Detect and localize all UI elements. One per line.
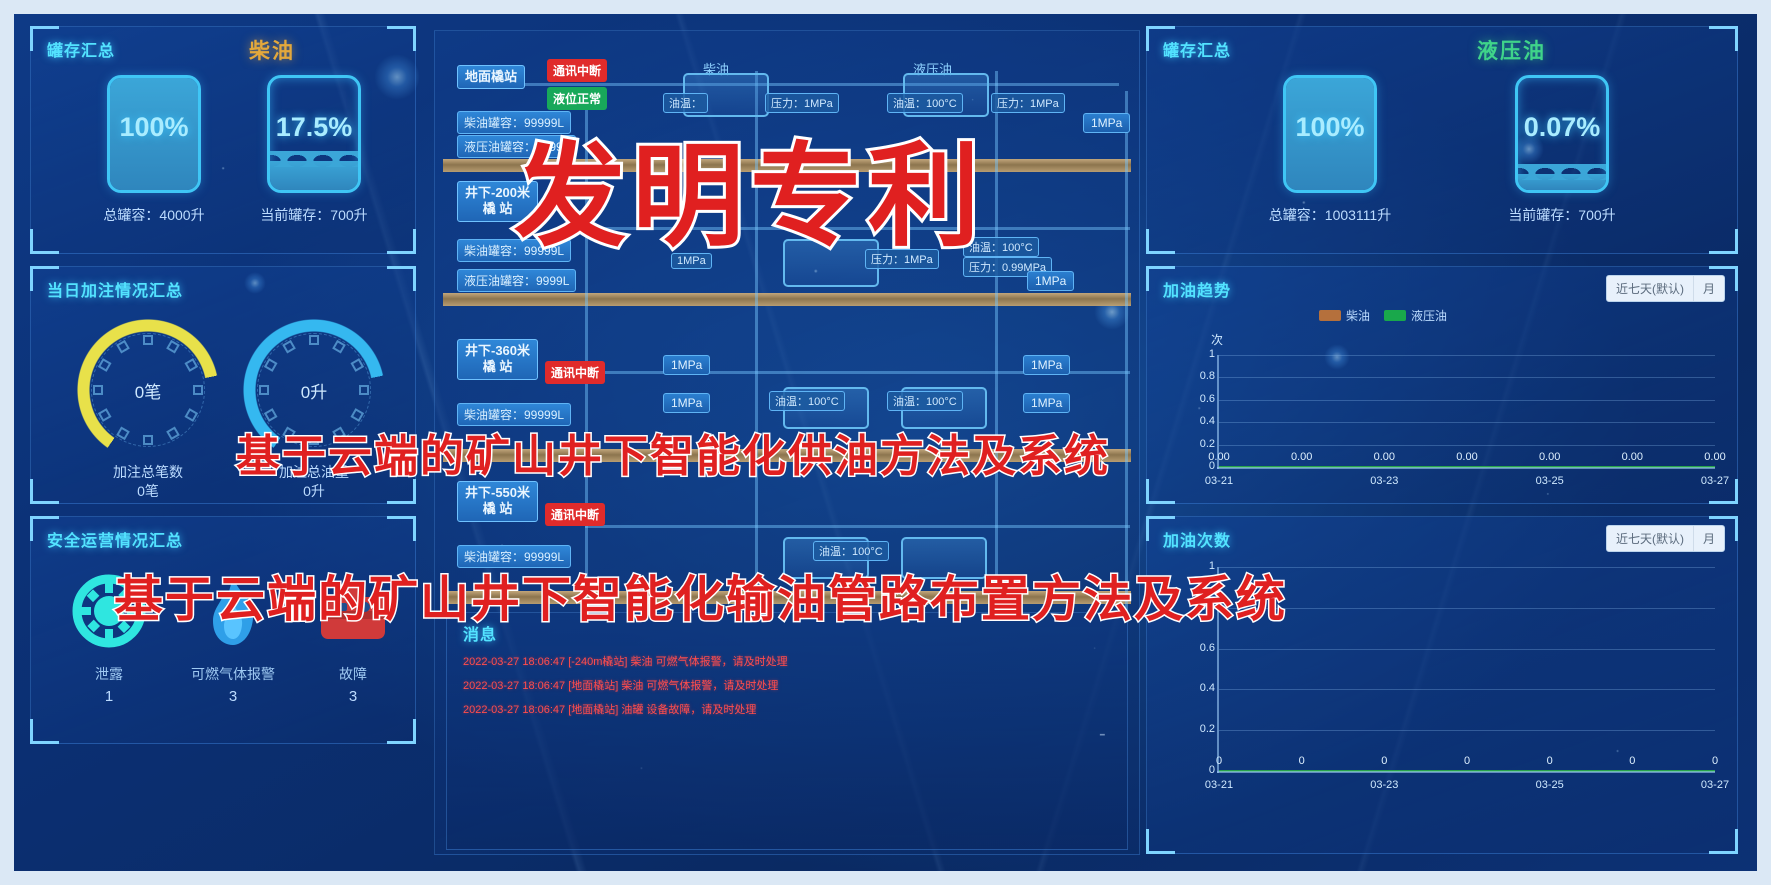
y-tick-label: 0.2 [1185, 723, 1215, 735]
pipe-horizontal [465, 83, 1119, 86]
panel-title: 加油趋势 [1163, 277, 1231, 301]
readout-oiltemp-6: 油温：100°C [813, 541, 889, 561]
data-point-label: 0.00 [1286, 451, 1318, 463]
x-tick-label: 03-21 [1199, 475, 1239, 487]
x-tick-label: 03-25 [1530, 475, 1570, 487]
legend-item-hydraulic: 液压油 [1384, 307, 1447, 324]
tank-caption: 总罐容：1003111升 [1245, 205, 1415, 225]
data-point-label: 0.00 [1203, 451, 1235, 463]
count-x-axis-line [1217, 771, 1715, 773]
tank-graphic: 17.5% [267, 75, 361, 193]
y-tick-label: 0.4 [1185, 415, 1215, 427]
message-row: 2022-03-27 18:06:47 [地面橇站] 油罐 设备故障，请及时处理 [463, 701, 756, 717]
tank-caption: 总罐容：4000升 [79, 205, 229, 225]
data-point-label: 0 [1616, 755, 1648, 767]
tank-fill [270, 161, 358, 190]
tank-percent: 17.5% [270, 112, 358, 143]
gridline [1219, 649, 1715, 650]
caption-line1: 加注总笔数 [63, 463, 233, 482]
gridline [1219, 608, 1715, 609]
data-point-label: 0.00 [1451, 451, 1483, 463]
station-550m[interactable]: 井下-550米 橇 站 [457, 481, 538, 522]
count-range-buttons[interactable]: 近七天(默认) 月 [1606, 525, 1725, 552]
gridline [1219, 730, 1715, 731]
x-tick-label: 03-25 [1530, 779, 1570, 791]
gauge-refuel-count: 0笔 [73, 315, 223, 465]
station-name-line1: 井下-360米 [465, 343, 530, 358]
count-plot-area: 00.20.40.60.8103-2103-2303-2503-27000000… [1219, 567, 1715, 771]
message-row: 2022-03-27 18:06:47 [地面橇站] 柴油 可燃气体报警，请及时… [463, 677, 778, 693]
watermark-title-line1: 基于云端的矿山井下智能化供油方法及系统 [236, 420, 1110, 484]
x-tick-label: 03-27 [1695, 779, 1735, 791]
safety-label: 可燃气体报警 [173, 664, 293, 684]
data-point-label: 0 [1286, 755, 1318, 767]
tank-total-capacity: 100% 总罐容：4000升 [79, 75, 229, 225]
tank-caption: 当前罐存：700升 [239, 205, 389, 225]
range-button-week[interactable]: 近七天(默认) [1607, 526, 1694, 551]
station-name: 地面橇站 [457, 65, 525, 89]
readout-oiltemp-4: 油温：100°C [769, 391, 845, 411]
panel-tank-summary-hydraulic: 罐存汇总 液压油 100% 总罐容：1003111升 0.07% 当前罐存：70… [1146, 26, 1738, 254]
station-200m-tag-hydraulic: 液压油罐容：9999L [457, 269, 576, 292]
safety-label: 泄露 [49, 664, 169, 684]
readout-pressure-2: 压力：1MPa [991, 93, 1065, 113]
station-360m[interactable]: 井下-360米 橇 站 [457, 339, 538, 380]
safety-count: 3 [173, 688, 293, 705]
panel-trend-chart: 加油趋势 近七天(默认) 月 柴油 液压油 次 00.20.40.60.8103… [1146, 266, 1738, 504]
legend-item-diesel: 柴油 [1319, 307, 1370, 324]
legend-label-diesel: 柴油 [1346, 307, 1370, 324]
dashboard-stage: 罐存汇总 柴油 100% 总罐容：4000升 17.5% 当前罐存：700升 当… [14, 14, 1757, 871]
safety-count: 3 [293, 688, 413, 705]
watermark-title-line2: 基于云端的矿山井下智能化输油管路布置方法及系统 [114, 560, 1287, 631]
data-point-label: 0 [1203, 755, 1235, 767]
data-point-label: 0 [1534, 755, 1566, 767]
x-tick-label: 03-23 [1364, 475, 1404, 487]
tank-graphic: 100% [107, 75, 201, 193]
tank-current-stock: 0.07% 当前罐存：700升 [1477, 75, 1647, 225]
safety-count: 1 [49, 688, 169, 705]
trend-y-axis-title: 次 [1211, 331, 1223, 348]
oil-type-label: 液压油 [1477, 35, 1546, 65]
station-name: 井下-550米 橇 站 [457, 481, 538, 522]
y-tick-label: 0.2 [1185, 438, 1215, 450]
pressure-tag-7: 1MPa [1023, 393, 1070, 413]
data-point-label: 0 [1451, 755, 1483, 767]
pipe-vertical [1125, 91, 1128, 611]
caption-line2: 0笔 [63, 482, 233, 501]
tank-percent: 100% [1286, 112, 1374, 143]
safety-label: 故障 [293, 664, 413, 684]
station-name-line2: 橇 站 [483, 201, 513, 216]
watermark-patent: 发明专利 [514, 106, 986, 268]
dashboard-root: 罐存汇总 柴油 100% 总罐容：4000升 17.5% 当前罐存：700升 当… [0, 0, 1771, 885]
caption-line2: 0升 [229, 482, 399, 501]
tank-graphic: 100% [1283, 75, 1377, 193]
tank-percent: 100% [110, 112, 198, 143]
x-tick-label: 03-21 [1199, 779, 1239, 791]
tank-total-capacity: 100% 总罐容：1003111升 [1245, 75, 1415, 225]
panel-title: 当日加注情况汇总 [47, 277, 183, 301]
data-point-label: 0.00 [1368, 451, 1400, 463]
x-tick-label: 03-27 [1695, 475, 1735, 487]
gridline [1219, 400, 1715, 401]
legend-label-hydraulic: 液压油 [1411, 307, 1447, 324]
panel-title: 罐存汇总 [1163, 37, 1231, 61]
station-surface[interactable]: 地面橇站 [457, 65, 525, 89]
pressure-tag-4: 1MPa [663, 355, 710, 375]
gridline [1219, 422, 1715, 423]
tank-caption: 当前罐存：700升 [1477, 205, 1647, 225]
data-point-label: 0.00 [1699, 451, 1731, 463]
message-row: 2022-03-27 18:06:47 [-240m橇站] 柴油 可燃气体报警，… [463, 653, 788, 669]
data-point-label: 0.00 [1534, 451, 1566, 463]
station-name-line2: 橇 站 [483, 359, 513, 374]
range-button-month[interactable]: 月 [1694, 276, 1724, 301]
pipe-horizontal [585, 525, 1130, 528]
pressure-tag-6: 1MPa [663, 393, 710, 413]
trend-y-axis-line [1217, 355, 1219, 469]
gridline [1219, 689, 1715, 690]
legend-swatch-diesel [1319, 310, 1341, 321]
readout-oiltemp-5: 油温：100°C [887, 391, 963, 411]
pipe-vertical [995, 71, 998, 611]
wave-icon [267, 151, 361, 167]
trend-range-buttons[interactable]: 近七天(默认) 月 [1606, 275, 1725, 302]
range-button-month[interactable]: 月 [1694, 526, 1724, 551]
data-point-label: 0 [1368, 755, 1400, 767]
tank-current-stock: 17.5% 当前罐存：700升 [239, 75, 389, 225]
data-point-label: 0 [1699, 755, 1731, 767]
x-tick-label: 03-23 [1364, 779, 1404, 791]
tank-graphic: 0.07% [1515, 75, 1609, 193]
pressure-tag-3: 1MPa [1027, 271, 1074, 291]
trend-x-axis-line [1217, 467, 1715, 469]
legend-swatch-hydraulic [1384, 310, 1406, 321]
panel-messages: 消息 2022-03-27 18:06:47 [-240m橇站] 柴油 可燃气体… [446, 612, 1128, 850]
station-surface-comm-badge: 通讯中断 [547, 59, 607, 82]
station-name: 井下-360米 橇 站 [457, 339, 538, 380]
station-550m-comm-badge: 通讯中断 [545, 503, 605, 526]
wave-icon [1515, 164, 1609, 180]
gridline [1219, 355, 1715, 356]
panel-title: 罐存汇总 [47, 37, 115, 61]
station-name-line2: 橇 站 [483, 501, 513, 516]
level-line-200m [443, 293, 1131, 306]
y-tick-label: 0.6 [1185, 393, 1215, 405]
gauge-value: 0笔 [73, 315, 223, 465]
tank-fill [1518, 174, 1606, 190]
trend-legend: 柴油 液压油 [1319, 307, 1447, 324]
pressure-tag-5: 1MPa [1023, 355, 1070, 375]
tank-percent: 0.07% [1518, 112, 1606, 143]
oil-type-label: 柴油 [249, 35, 295, 65]
pressure-tag-1: 1MPa [1083, 113, 1130, 133]
data-point-label: 0.00 [1616, 451, 1648, 463]
panel-title: 安全运营情况汇总 [47, 527, 183, 551]
y-tick-label: 0.8 [1185, 370, 1215, 382]
y-tick-label: 0.6 [1185, 642, 1215, 654]
gridline [1219, 445, 1715, 446]
y-tick-label: 1 [1185, 348, 1215, 360]
gridline [1219, 377, 1715, 378]
y-tick-label: 0.4 [1185, 682, 1215, 694]
trend-plot-area: 00.20.40.60.8103-2103-2303-2503-270.000.… [1219, 355, 1715, 467]
station-360m-comm-badge: 通讯中断 [545, 361, 605, 384]
gauge-caption-count: 加注总笔数 0笔 [63, 463, 233, 501]
station-name-line1: 井下-550米 [465, 485, 530, 500]
range-button-week[interactable]: 近七天(默认) [1607, 276, 1694, 301]
panel-tank-summary-diesel: 罐存汇总 柴油 100% 总罐容：4000升 17.5% 当前罐存：700升 [30, 26, 416, 254]
gridline [1219, 567, 1715, 568]
panel-title: 加油次数 [1163, 527, 1231, 551]
